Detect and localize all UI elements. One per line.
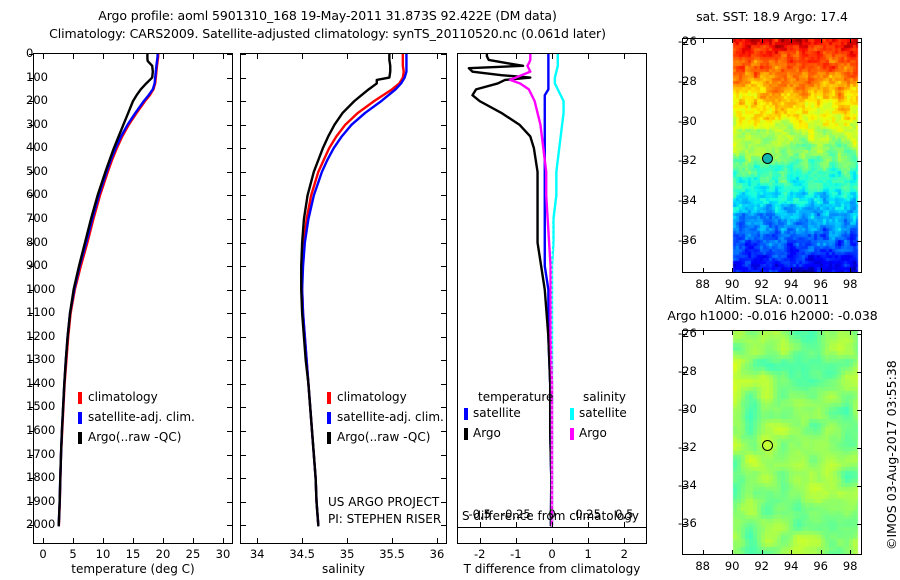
- tick-mark: [441, 525, 446, 526]
- tick-mark: [103, 54, 104, 59]
- tick-mark: [227, 478, 232, 479]
- copyright-label: ©IMOS 03-Aug-2017 03:55:38: [884, 360, 899, 550]
- tick-mark: [703, 550, 704, 555]
- tick-mark: [257, 54, 258, 59]
- tick-label: -1: [510, 547, 521, 561]
- tick-label: 98: [843, 559, 858, 573]
- tick-mark: [857, 201, 862, 202]
- map-sst-title: sat. SST: 18.9 Argo: 17.4: [672, 9, 872, 24]
- tick-label: 2: [621, 547, 628, 561]
- tick-label: 94: [784, 559, 799, 573]
- tick-mark: [133, 54, 134, 59]
- legend-swatch: [464, 408, 468, 420]
- tick-label: 88: [695, 277, 710, 291]
- tick-label: 96: [813, 277, 828, 291]
- tick-mark: [227, 148, 232, 149]
- tick-mark: [241, 478, 246, 479]
- tick-mark: [857, 122, 862, 123]
- tick-mark: [103, 538, 104, 543]
- panel-difference: [457, 53, 647, 544]
- tick-mark: [441, 125, 446, 126]
- tick-label: 90: [725, 277, 740, 291]
- tick-label: 92: [754, 559, 769, 573]
- tick-mark: [73, 538, 74, 543]
- legend-swatch: [78, 412, 82, 424]
- tick-mark: [703, 268, 704, 273]
- tick-mark: [223, 54, 224, 59]
- legend-label: Argo(..raw -QC): [88, 430, 181, 444]
- tick-mark: [857, 42, 862, 43]
- tick-mark: [791, 268, 792, 273]
- legend-label: satellite: [473, 406, 521, 420]
- tick-mark: [227, 290, 232, 291]
- legend-swatch: [327, 432, 331, 444]
- tick-mark: [241, 525, 246, 526]
- legend-label: satellite-adj. clim.: [337, 410, 444, 424]
- tick-mark: [857, 82, 862, 83]
- tick-mark: [441, 455, 446, 456]
- legend-swatch: [570, 408, 574, 420]
- tick-label: 35.5: [379, 547, 405, 561]
- tick-mark: [850, 268, 851, 273]
- tick-mark: [441, 195, 446, 196]
- tick-mark: [241, 195, 246, 196]
- tick-mark: [241, 219, 246, 220]
- tick-mark: [441, 78, 446, 79]
- tick-mark: [762, 38, 763, 43]
- salinity-profile-plot: [241, 54, 446, 543]
- tick-label: 34.5: [289, 547, 315, 561]
- tick-mark: [227, 78, 232, 79]
- tick-mark: [732, 268, 733, 273]
- map-sla-title-line1: Altim. SLA: 0.0011: [672, 292, 872, 307]
- tick-mark: [850, 550, 851, 555]
- tick-mark: [437, 538, 438, 543]
- tick-mark: [241, 384, 246, 385]
- tick-mark: [588, 54, 589, 59]
- legend-label: Argo: [579, 426, 607, 440]
- tick-label: 96: [813, 559, 828, 573]
- tick-label: 30: [216, 547, 231, 561]
- legend-label: satellite: [579, 406, 627, 420]
- tick-mark: [441, 384, 446, 385]
- tick-mark: [227, 384, 232, 385]
- tick-mark: [227, 407, 232, 408]
- temperature-x-axis-label: temperature (deg C): [33, 562, 233, 576]
- tick-mark: [588, 538, 589, 543]
- tick-mark: [227, 360, 232, 361]
- legend-label: satellite-adj. clim.: [88, 410, 195, 424]
- tick-mark: [227, 337, 232, 338]
- tick-mark: [552, 54, 553, 59]
- tick-mark: [241, 313, 246, 314]
- tick-mark: [441, 148, 446, 149]
- tick-label: 0: [548, 547, 555, 561]
- map-sla-title-line2: Argo h1000: -0.016 h2000: -0.038: [660, 308, 885, 323]
- tick-label: 10: [96, 547, 111, 561]
- tick-mark: [857, 410, 862, 411]
- tick-mark: [193, 54, 194, 59]
- pi-label: PI: STEPHEN RISER: [328, 512, 441, 526]
- tick-label: 35: [340, 547, 355, 561]
- tick-mark: [552, 538, 553, 543]
- tick-mark: [227, 54, 232, 55]
- tick-mark: [441, 478, 446, 479]
- difference-bottom-axis-label: T difference from climatology: [457, 562, 647, 576]
- tick-mark: [392, 54, 393, 59]
- tick-mark: [43, 54, 44, 59]
- tick-mark: [441, 360, 446, 361]
- tick-mark: [43, 538, 44, 543]
- panel-salinity: [240, 53, 447, 544]
- tick-mark: [347, 538, 348, 543]
- tick-mark: [821, 550, 822, 555]
- difference-profile-plot: [458, 54, 646, 543]
- tick-mark: [441, 502, 446, 503]
- tick-mark: [624, 54, 625, 59]
- tick-mark: [193, 538, 194, 543]
- tick-mark: [241, 266, 246, 267]
- tick-mark: [227, 219, 232, 220]
- tick-label: 34: [250, 547, 265, 561]
- us-argo-project-label: US ARGO PROJECT: [328, 495, 439, 509]
- tick-mark: [441, 101, 446, 102]
- tick-mark: [241, 54, 246, 55]
- tick-mark: [762, 330, 763, 335]
- tick-mark: [791, 38, 792, 43]
- difference-salinity-axis-label: S difference from climatology: [462, 509, 639, 523]
- tick-mark: [163, 538, 164, 543]
- tick-mark: [227, 431, 232, 432]
- tick-mark: [241, 337, 246, 338]
- tick-mark: [241, 290, 246, 291]
- tick-mark: [624, 538, 625, 543]
- tick-mark: [133, 538, 134, 543]
- legend-label: climatology: [337, 390, 407, 404]
- panel-temperature: [33, 53, 233, 544]
- tick-label: 15: [126, 547, 141, 561]
- tick-mark: [703, 38, 704, 43]
- tick-mark: [437, 54, 438, 59]
- tick-mark: [241, 243, 246, 244]
- tick-label: 36: [430, 547, 445, 561]
- tick-mark: [241, 125, 246, 126]
- tick-mark: [732, 550, 733, 555]
- tick-mark: [241, 502, 246, 503]
- tick-mark: [791, 550, 792, 555]
- tick-mark: [732, 38, 733, 43]
- tick-mark: [227, 172, 232, 173]
- tick-mark: [821, 38, 822, 43]
- salinity-x-axis-label: salinity: [240, 562, 447, 576]
- legend-swatch: [464, 428, 468, 440]
- tick-mark: [302, 54, 303, 59]
- tick-mark: [163, 54, 164, 59]
- legend-swatch: [78, 432, 82, 444]
- tick-mark: [441, 313, 446, 314]
- tick-mark: [257, 538, 258, 543]
- tick-mark: [441, 54, 446, 55]
- tick-mark: [850, 38, 851, 43]
- tick-mark: [223, 538, 224, 543]
- tick-mark: [227, 525, 232, 526]
- tick-mark: [392, 538, 393, 543]
- tick-mark: [441, 172, 446, 173]
- tick-mark: [227, 266, 232, 267]
- legend-swatch: [327, 412, 331, 424]
- map-sst: [682, 38, 862, 273]
- page-title-line2: Climatology: CARS2009. Satellite-adjuste…: [0, 26, 655, 41]
- tick-mark: [441, 431, 446, 432]
- tick-mark: [241, 101, 246, 102]
- tick-label: 98: [843, 277, 858, 291]
- tick-mark: [241, 148, 246, 149]
- tick-mark: [347, 54, 348, 59]
- tick-mark: [227, 101, 232, 102]
- legend-group-salinity: salinity: [583, 390, 626, 404]
- tick-mark: [441, 219, 446, 220]
- tick-mark: [441, 266, 446, 267]
- tick-mark: [821, 268, 822, 273]
- tick-mark: [227, 195, 232, 196]
- tick-label: 92: [754, 277, 769, 291]
- tick-mark: [857, 486, 862, 487]
- legend-label: climatology: [88, 390, 158, 404]
- legend-label: Argo(..raw -QC): [337, 430, 430, 444]
- tick-mark: [857, 241, 862, 242]
- tick-label: 1: [584, 547, 591, 561]
- tick-label: 94: [784, 277, 799, 291]
- tick-mark: [241, 431, 246, 432]
- legend-swatch: [78, 392, 82, 404]
- tick-mark: [227, 243, 232, 244]
- tick-label: 88: [695, 559, 710, 573]
- map-sla: [682, 330, 862, 555]
- tick-mark: [857, 372, 862, 373]
- tick-mark: [241, 172, 246, 173]
- tick-mark: [857, 161, 862, 162]
- tick-mark: [227, 455, 232, 456]
- tick-mark: [762, 268, 763, 273]
- tick-mark: [516, 538, 517, 543]
- page-title-line1: Argo profile: aoml 5901310_168 19-May-20…: [0, 8, 655, 23]
- tick-mark: [762, 550, 763, 555]
- tick-mark: [302, 538, 303, 543]
- legend-group-temperature: temperature: [478, 390, 553, 404]
- tick-mark: [703, 330, 704, 335]
- tick-mark: [241, 407, 246, 408]
- tick-mark: [441, 243, 446, 244]
- tick-mark: [458, 527, 646, 528]
- tick-label: 20: [156, 547, 171, 561]
- tick-mark: [850, 330, 851, 335]
- tick-mark: [227, 502, 232, 503]
- tick-mark: [791, 330, 792, 335]
- tick-mark: [441, 337, 446, 338]
- tick-label: 25: [186, 547, 201, 561]
- legend-label: Argo: [473, 426, 501, 440]
- tick-mark: [227, 313, 232, 314]
- tick-mark: [73, 54, 74, 59]
- tick-mark: [241, 360, 246, 361]
- tick-mark: [441, 290, 446, 291]
- tick-label: 5: [69, 547, 76, 561]
- tick-mark: [732, 330, 733, 335]
- tick-mark: [441, 407, 446, 408]
- tick-mark: [480, 54, 481, 59]
- tick-mark: [857, 448, 862, 449]
- tick-label: -2: [474, 547, 485, 561]
- tick-mark: [516, 54, 517, 59]
- legend-swatch: [327, 392, 331, 404]
- tick-mark: [857, 334, 862, 335]
- tick-mark: [857, 524, 862, 525]
- temperature-profile-plot: [34, 54, 232, 543]
- tick-label: 0: [39, 547, 46, 561]
- legend-swatch: [570, 428, 574, 440]
- tick-mark: [241, 78, 246, 79]
- tick-mark: [241, 455, 246, 456]
- tick-mark: [480, 538, 481, 543]
- tick-mark: [821, 330, 822, 335]
- tick-mark: [227, 125, 232, 126]
- tick-label: 90: [725, 559, 740, 573]
